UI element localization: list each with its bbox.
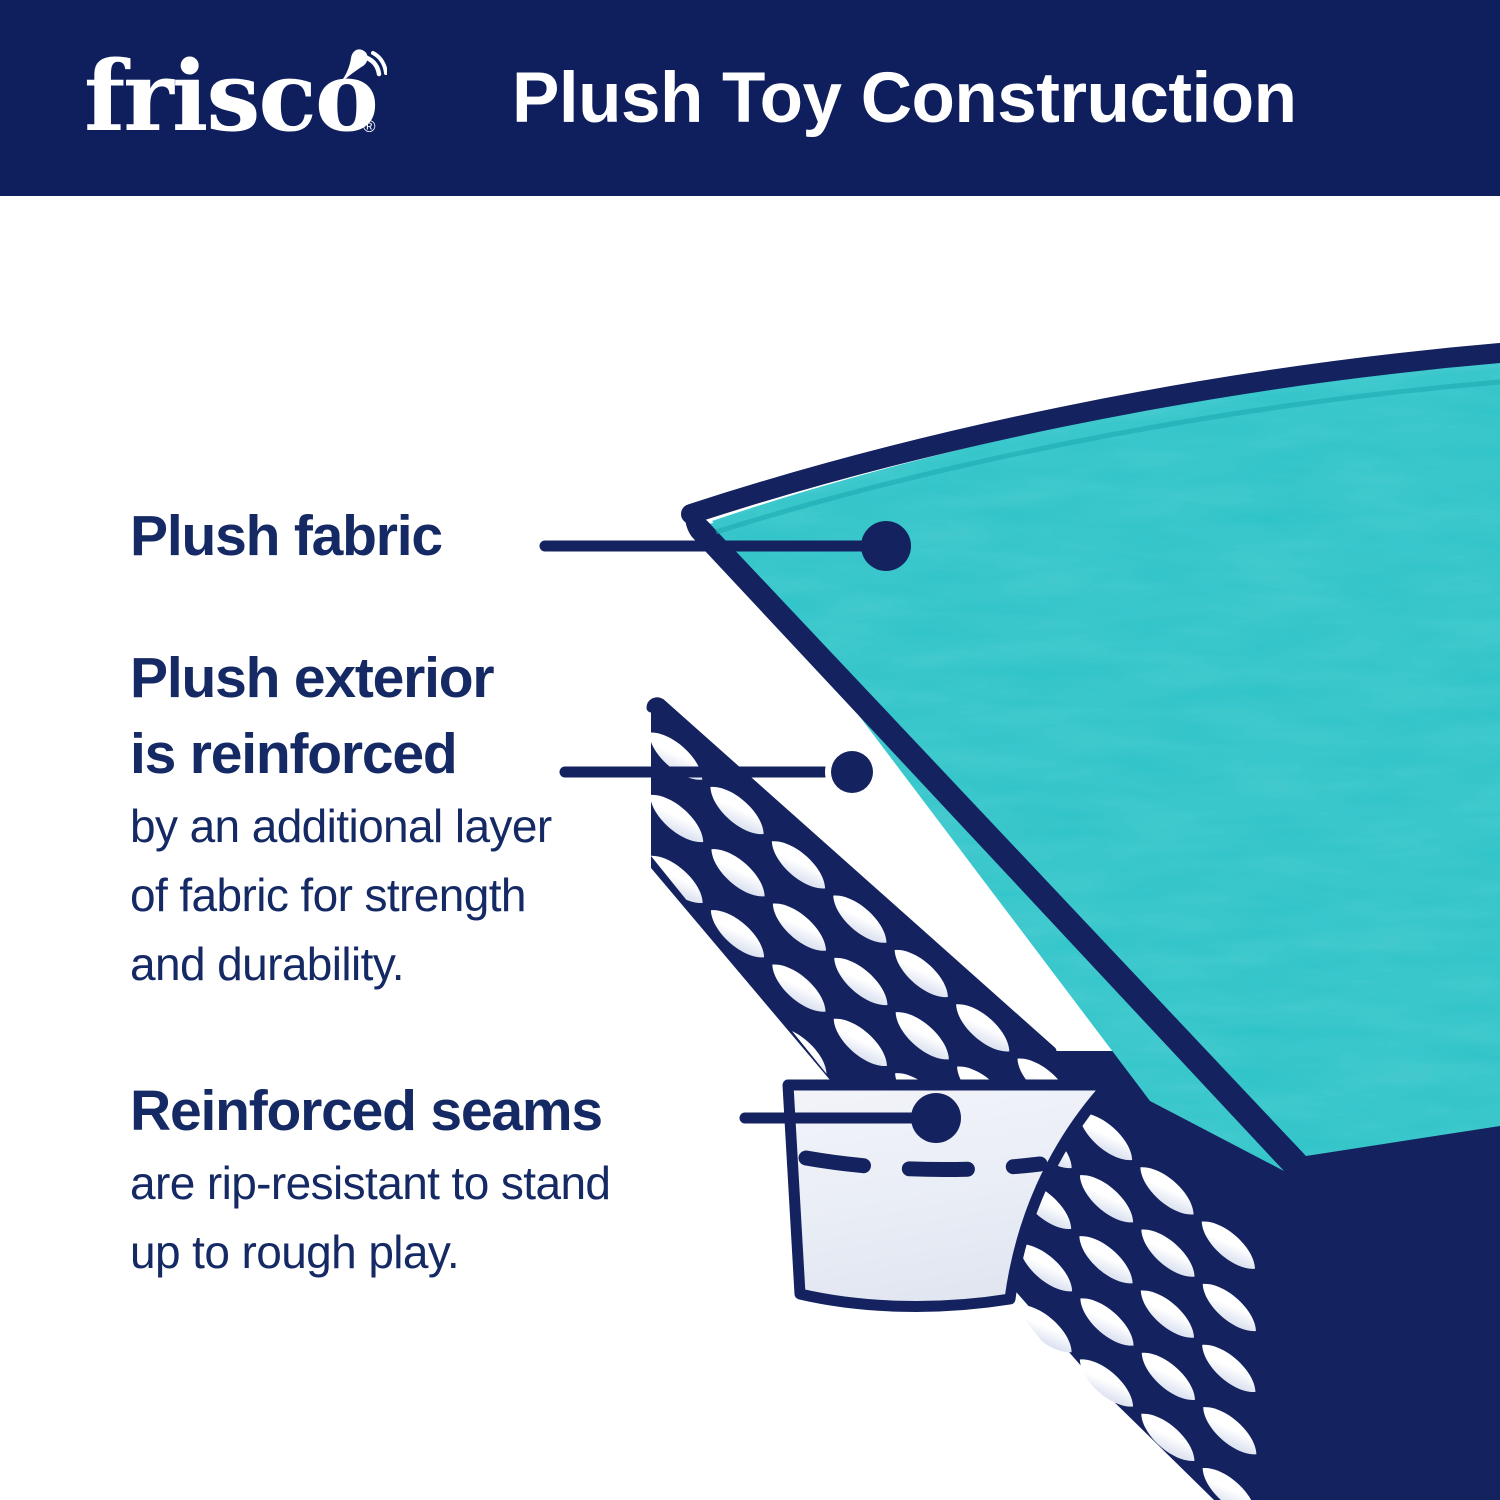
callout-plush-exterior-heading: Plush exterior is reinforced (130, 640, 730, 792)
frisco-tail-flourish-icon (327, 44, 387, 104)
callout-reinforced-seams: Reinforced seams are rip-resistant to st… (130, 1073, 810, 1287)
header-bar: frisco ® Plush Toy Construction (0, 0, 1500, 196)
callout-reinforced-seams-heading: Reinforced seams (130, 1073, 810, 1149)
callout-plush-fabric: Plush fabric (130, 498, 600, 574)
leader-dot-ringed (831, 751, 873, 793)
page-title: Plush Toy Construction (512, 0, 1296, 196)
registered-trademark-mark: ® (363, 118, 376, 135)
leader-dot-filled (911, 1093, 961, 1143)
callout-plush-exterior: Plush exterior is reinforced by an addit… (130, 640, 730, 999)
callout-reinforced-seams-body: are rip-resistant to stand up to rough p… (130, 1149, 810, 1287)
leader-dot-filled (861, 521, 911, 571)
callout-plush-exterior-body: by an additional layer of fabric for str… (130, 792, 730, 999)
infographic-page: frisco ® Plush Toy Construction (0, 0, 1500, 1500)
callout-plush-fabric-heading: Plush fabric (130, 498, 600, 574)
frisco-logo: frisco ® (84, 42, 384, 152)
